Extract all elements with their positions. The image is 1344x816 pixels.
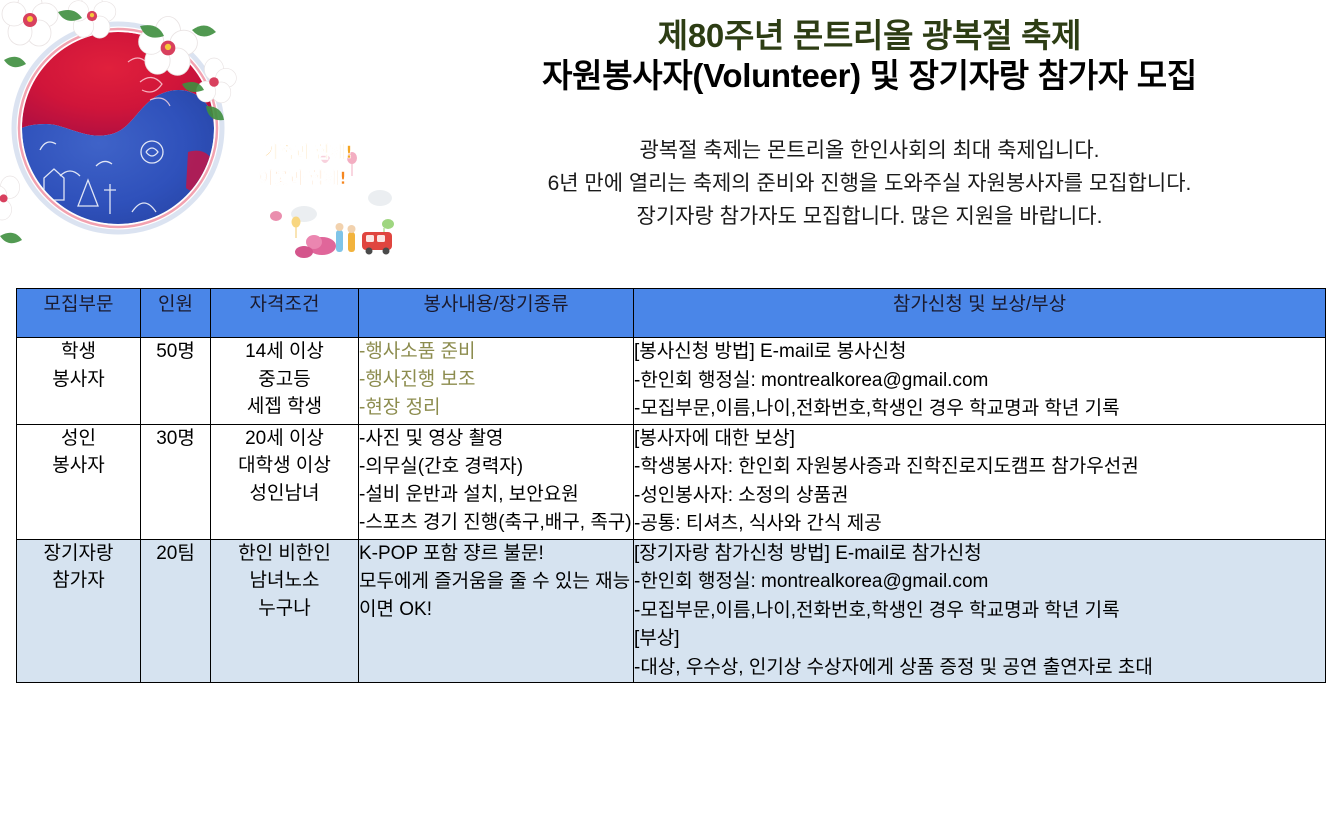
part-line: 성인 — [17, 425, 140, 453]
table-row: 학생 봉사자 50명 14세 이상 중고등 세젭 학생 -행사소품 준비 -행사… — [17, 338, 1326, 425]
work-line: -스포츠 경기 진행(축구,배구, 족구) — [359, 509, 633, 537]
family-neighbor-slogan-illustration: 가족과 함께! 이웃과 함께! — [256, 128, 402, 258]
apply-line: -성인봉사자: 소정의 상품권 — [634, 482, 1325, 511]
recruitment-table: 모집부문 인원 자격조건 봉사내용/장기종류 참가신청 및 보상/부상 학생 봉… — [16, 288, 1326, 683]
work-line: -사진 및 영상 촬영 — [359, 425, 633, 453]
qualification-line: 중고등 — [211, 366, 358, 394]
cell-part: 장기자랑 참가자 — [17, 539, 141, 683]
qualification-line: 세젭 학생 — [211, 393, 358, 421]
work-line: K-POP 포함 쟝르 불문! — [359, 540, 633, 568]
cell-count: 30명 — [141, 424, 211, 539]
cell-qualification: 20세 이상 대학생 이상 성인남녀 — [211, 424, 359, 539]
apply-line: [봉사자에 대한 보상] — [634, 425, 1325, 454]
cell-count: 50명 — [141, 338, 211, 425]
column-header-part: 모집부문 — [17, 289, 141, 338]
subtitle-line: 광복절 축제는 몬트리올 한인사회의 최대 축제입니다. — [395, 134, 1344, 167]
part-line: 봉사자 — [17, 452, 140, 480]
work-line: 모두에게 즐거움을 줄 수 있는 재능이면 OK! — [359, 568, 633, 624]
part-line: 봉사자 — [17, 366, 140, 394]
table-row: 장기자랑 참가자 20팀 한인 비한인 남녀노소 누구나 K-POP 포함 쟝르… — [17, 539, 1326, 683]
qualification-line: 남녀노소 — [211, 567, 358, 595]
column-header-apply: 참가신청 및 보상/부상 — [634, 289, 1326, 338]
subtitle-line: 장기자랑 참가자도 모집합니다. 많은 지원을 바랍니다. — [395, 200, 1344, 233]
cell-work: -행사소품 준비 -행사진행 보조 -현장 정리 — [359, 338, 634, 425]
work-line: -설비 운반과 설치, 보안요원 — [359, 481, 633, 509]
part-line: 장기자랑 — [17, 540, 140, 568]
work-line: -행사소품 준비 — [359, 338, 633, 366]
work-line: -의무실(간호 경력자) — [359, 453, 633, 481]
subtitle-line: 6년 만에 열리는 축제의 준비와 진행을 도와주실 자원봉사자를 모집합니다. — [395, 167, 1344, 200]
table-header-row: 모집부문 인원 자격조건 봉사내용/장기종류 참가신청 및 보상/부상 — [17, 289, 1326, 338]
cell-work: K-POP 포함 쟝르 불문! 모두에게 즐거움을 줄 수 있는 재능이면 OK… — [359, 539, 634, 683]
apply-line: -모집부문,이름,나이,전화번호,학생인 경우 학교명과 학년 기록 — [634, 597, 1325, 626]
title-line-primary: 제80주년 몬트리올 광복절 축제 — [395, 16, 1344, 56]
part-line: 학생 — [17, 338, 140, 366]
page-title: 제80주년 몬트리올 광복절 축제 자원봉사자(Volunteer) 및 장기자… — [395, 16, 1344, 97]
apply-line: -공통: 티셔츠, 식사와 간식 제공 — [634, 510, 1325, 539]
cell-part: 학생 봉사자 — [17, 338, 141, 425]
cell-apply: [봉사자에 대한 보상] -학생봉사자: 한인회 자원봉사증과 진학진로지도캠프… — [634, 424, 1326, 539]
slogan-decorations — [256, 128, 402, 258]
work-line: -현장 정리 — [359, 394, 633, 422]
apply-line: [봉사신청 방법] E-mail로 봉사신청 — [634, 338, 1325, 367]
qualification-line: 20세 이상 — [211, 425, 358, 453]
cell-apply: [봉사신청 방법] E-mail로 봉사신청 -한인회 행정실: montrea… — [634, 338, 1326, 425]
cell-count: 20팀 — [141, 539, 211, 683]
apply-line: -모집부문,이름,나이,전화번호,학생인 경우 학교명과 학년 기록 — [634, 395, 1325, 424]
column-header-count: 인원 — [141, 289, 211, 338]
taegeuk-hibiscus-illustration — [0, 0, 250, 265]
part-line: 참가자 — [17, 567, 140, 595]
apply-line: -학생봉사자: 한인회 자원봉사증과 진학진로지도캠프 참가우선권 — [634, 453, 1325, 482]
title-line-secondary: 자원봉사자(Volunteer) 및 장기자랑 참가자 모집 — [395, 56, 1344, 96]
cell-work: -사진 및 영상 촬영 -의무실(간호 경력자) -설비 운반과 설치, 보안요… — [359, 424, 634, 539]
apply-line: -한인회 행정실: montrealkorea@gmail.com — [634, 367, 1325, 396]
slogan-line-1: 가족과 함께! — [264, 138, 352, 163]
slogan-line-2: 이웃과 함께! — [258, 164, 346, 189]
qualification-line: 한인 비한인 — [211, 540, 358, 568]
apply-line: -한인회 행정실: montrealkorea@gmail.com — [634, 568, 1325, 597]
table-row: 성인 봉사자 30명 20세 이상 대학생 이상 성인남녀 -사진 및 영상 촬… — [17, 424, 1326, 539]
cell-qualification: 14세 이상 중고등 세젭 학생 — [211, 338, 359, 425]
apply-line: -대상, 우수상, 인기상 수상자에게 상품 증정 및 공연 출연자로 초대 — [634, 654, 1325, 683]
apply-line: [부상] — [634, 625, 1325, 654]
cell-part: 성인 봉사자 — [17, 424, 141, 539]
column-header-work: 봉사내용/장기종류 — [359, 289, 634, 338]
qualification-line: 성인남녀 — [211, 480, 358, 508]
column-header-qualification: 자격조건 — [211, 289, 359, 338]
subtitle-block: 광복절 축제는 몬트리올 한인사회의 최대 축제입니다. 6년 만에 열리는 축… — [395, 134, 1344, 234]
qualification-line: 14세 이상 — [211, 338, 358, 366]
qualification-line: 대학생 이상 — [211, 452, 358, 480]
work-line: -행사진행 보조 — [359, 366, 633, 394]
apply-line: [장기자랑 참가신청 방법] E-mail로 참가신청 — [634, 540, 1325, 569]
cell-qualification: 한인 비한인 남녀노소 누구나 — [211, 539, 359, 683]
qualification-line: 누구나 — [211, 595, 358, 623]
cell-apply: [장기자랑 참가신청 방법] E-mail로 참가신청 -한인회 행정실: mo… — [634, 539, 1326, 683]
